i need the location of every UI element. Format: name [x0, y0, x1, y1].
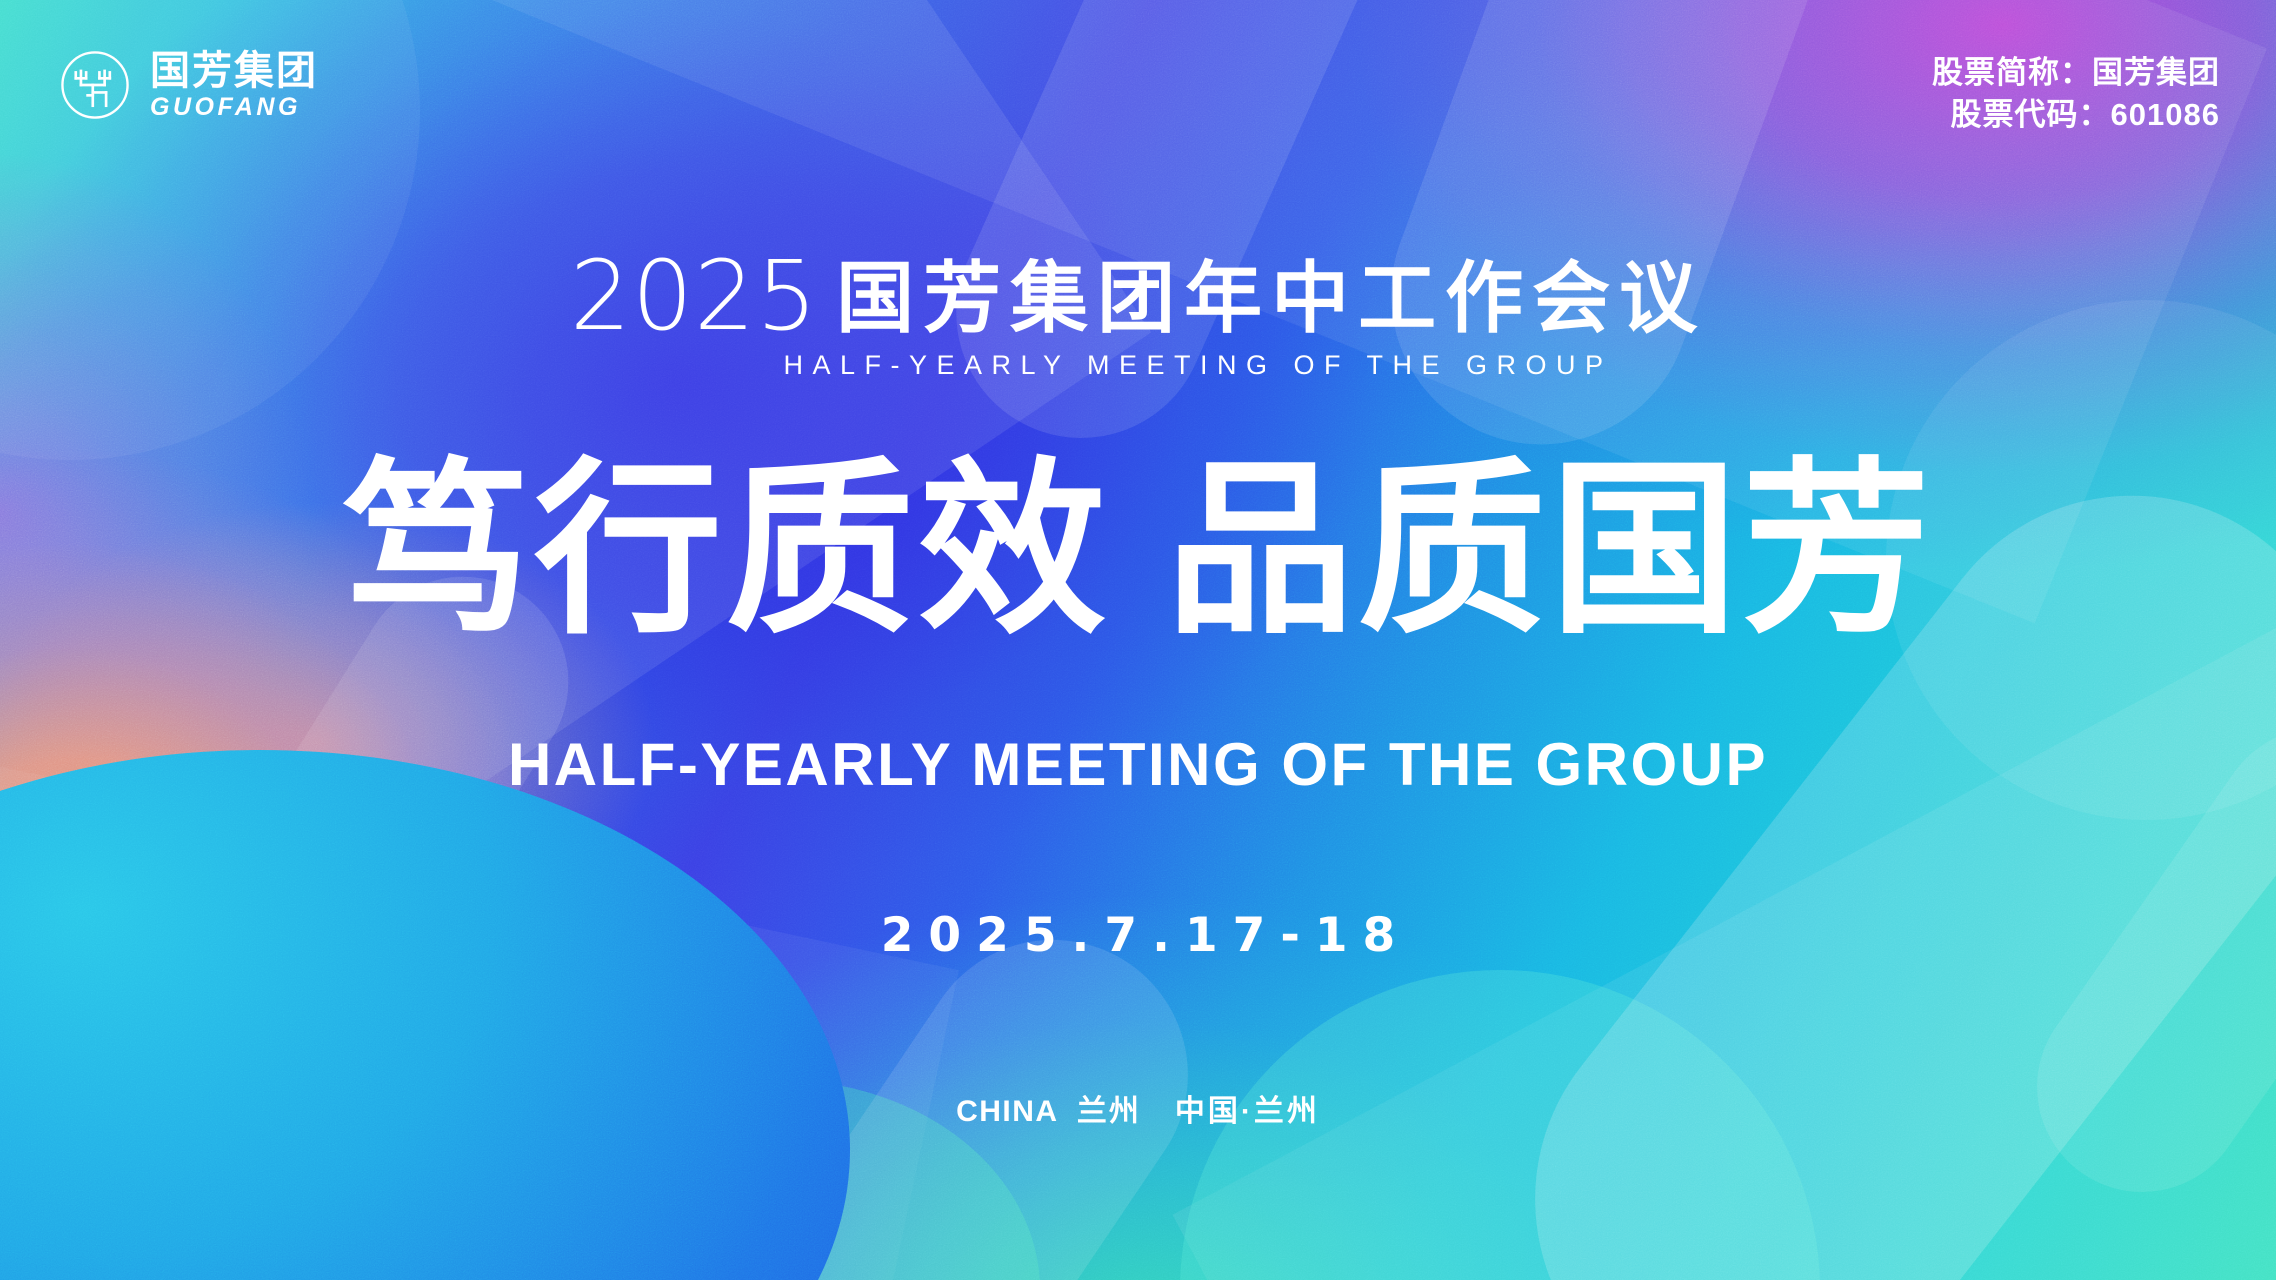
- event-banner: 国芳集团 GUOFANG 股票简称：国芳集团 股票代码：601086 2025 …: [0, 0, 2276, 1280]
- hero-slogan-part-2: 品质国芳: [1166, 445, 1934, 655]
- brand-name-en: GUOFANG: [150, 95, 318, 120]
- hero-slogan: 笃行质效品质国芳: [0, 452, 2276, 649]
- hero-slogan-part-1: 笃行质效: [342, 445, 1110, 655]
- event-title-cn: 国芳集团年中工作会议: [836, 259, 1706, 337]
- stock-abbreviation: 股票简称：国芳集团: [1932, 52, 2220, 94]
- event-year: 2025: [570, 252, 818, 340]
- event-location-en: CHINA: [956, 1095, 1059, 1128]
- event-title-block: 2025 国芳集团年中工作会议 HALF-YEARLY MEETING OF T…: [0, 252, 2276, 381]
- hero-slogan-english: HALF-YEARLY MEETING OF THE GROUP: [0, 730, 2276, 799]
- event-location-cn: 中国·兰州: [1175, 1095, 1320, 1128]
- event-title-row: 2025 国芳集团年中工作会议: [0, 252, 2276, 340]
- decor-ellipse-bottom-left: [0, 750, 850, 1280]
- stock-info: 股票简称：国芳集团 股票代码：601086: [1932, 52, 2220, 135]
- stock-code: 股票代码：601086: [1932, 94, 2220, 136]
- brand-name-cn: 国芳集团: [150, 51, 318, 91]
- event-title-en: HALF-YEARLY MEETING OF THE GROUP: [0, 350, 2276, 381]
- event-location: CHINA 兰州中国·兰州: [0, 1086, 2276, 1130]
- event-location-city: 兰州: [1077, 1095, 1141, 1128]
- brand-logo: 国芳集团 GUOFANG: [58, 48, 318, 122]
- brand-logo-wordmark: 国芳集团 GUOFANG: [150, 51, 318, 120]
- guofang-deer-circle-logo-icon: [58, 48, 132, 122]
- event-date: 2025.7.17-18: [0, 908, 2276, 963]
